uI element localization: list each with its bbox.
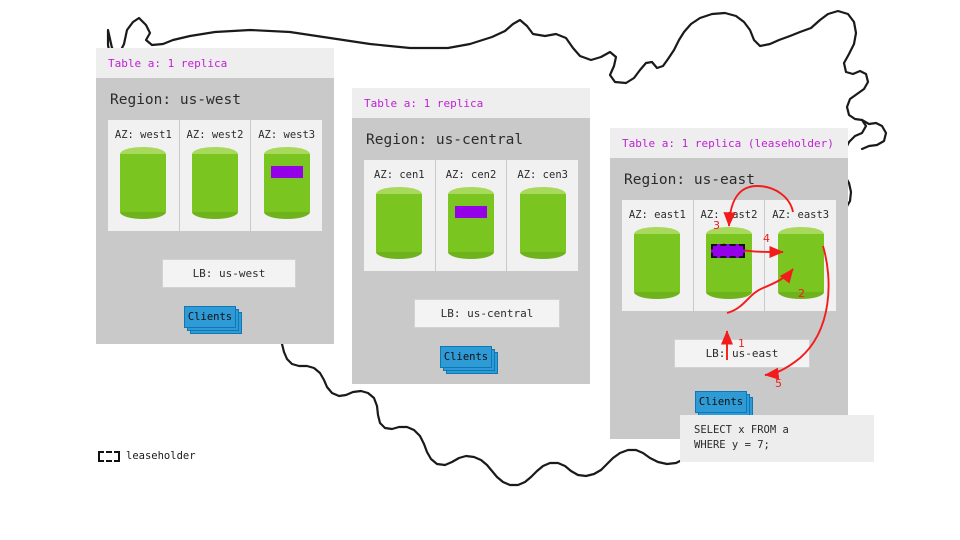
load-balancer-us-west[interactable]: LB: us-west (162, 259, 296, 288)
az-cell-west3[interactable]: AZ: west3 (251, 120, 322, 231)
step-number-3: 3 (713, 219, 720, 232)
az-cell-east2[interactable]: AZ: east2 (694, 200, 766, 311)
cylinder-body (264, 154, 310, 212)
panel-header-us-west: Table a: 1 replica (96, 48, 334, 78)
az-cell-west1[interactable]: AZ: west1 (108, 120, 180, 231)
clients-label-us-west: Clients (184, 306, 236, 328)
panel-body-us-east: Region: us-east AZ: east1 AZ: east2 (610, 158, 848, 439)
diagram-canvas: Table a: 1 replica Region: us-west AZ: w… (0, 0, 960, 540)
step-number-5: 5 (775, 377, 782, 390)
clients-us-west[interactable]: Clients (184, 306, 240, 330)
sql-query-box: SELECT x FROM a WHERE y = 7; (680, 415, 874, 462)
cylinder-body (376, 194, 422, 252)
cylinder-body (634, 234, 680, 292)
panel-body-us-central: Region: us-central AZ: cen1 AZ: cen2 (352, 118, 590, 384)
leaseholder-replica-chip-east2 (711, 244, 745, 258)
clients-label-us-east: Clients (695, 391, 747, 413)
cylinder-body (706, 234, 752, 292)
leaseholder-swatch-icon (98, 451, 120, 462)
clients-us-central[interactable]: Clients (440, 346, 496, 370)
panel-header-us-east: Table a: 1 replica (leaseholder) (610, 128, 848, 158)
az-cell-cen1[interactable]: AZ: cen1 (364, 160, 436, 271)
load-balancer-us-central[interactable]: LB: us-central (414, 299, 560, 328)
az-label-west2: AZ: west2 (180, 129, 251, 141)
legend-leaseholder: leaseholder (98, 450, 196, 462)
az-cell-east1[interactable]: AZ: east1 (622, 200, 694, 311)
replica-chip-west3 (271, 166, 303, 178)
region-panel-us-west[interactable]: Table a: 1 replica Region: us-west AZ: w… (96, 48, 334, 344)
region-title-us-central: Region: us-central (352, 118, 590, 160)
clients-us-east[interactable]: Clients (695, 391, 751, 415)
step-number-4: 4 (763, 232, 770, 245)
az-row-us-central: AZ: cen1 AZ: cen2 (364, 160, 578, 271)
node-cylinder-east2[interactable] (706, 227, 752, 299)
legend-label: leaseholder (126, 450, 196, 462)
az-label-east1: AZ: east1 (622, 209, 693, 221)
step-number-2: 2 (798, 287, 805, 300)
az-label-east3: AZ: east3 (765, 209, 836, 221)
cylinder-body (520, 194, 566, 252)
panel-body-us-west: Region: us-west AZ: west1 AZ: west2 (96, 78, 334, 344)
cylinder-body (448, 194, 494, 252)
cylinder-body (778, 234, 824, 292)
az-cell-cen3[interactable]: AZ: cen3 (507, 160, 578, 271)
node-cylinder-west1[interactable] (120, 147, 166, 219)
az-label-cen3: AZ: cen3 (507, 169, 578, 181)
node-cylinder-west2[interactable] (192, 147, 238, 219)
az-label-cen2: AZ: cen2 (436, 169, 507, 181)
node-cylinder-cen2[interactable] (448, 187, 494, 259)
az-label-west1: AZ: west1 (108, 129, 179, 141)
az-label-cen1: AZ: cen1 (364, 169, 435, 181)
region-panel-us-east[interactable]: Table a: 1 replica (leaseholder) Region:… (610, 128, 848, 439)
step-number-1: 1 (738, 337, 745, 350)
node-cylinder-east1[interactable] (634, 227, 680, 299)
node-cylinder-west3[interactable] (264, 147, 310, 219)
region-title-us-east: Region: us-east (610, 158, 848, 200)
cylinder-body (120, 154, 166, 212)
node-cylinder-cen1[interactable] (376, 187, 422, 259)
node-cylinder-cen3[interactable] (520, 187, 566, 259)
az-cell-west2[interactable]: AZ: west2 (180, 120, 252, 231)
az-row-us-west: AZ: west1 AZ: west2 AZ (108, 120, 322, 231)
az-cell-cen2[interactable]: AZ: cen2 (436, 160, 508, 271)
replica-chip-cen2 (455, 206, 487, 218)
panel-header-us-central: Table a: 1 replica (352, 88, 590, 118)
clients-label-us-central: Clients (440, 346, 492, 368)
cylinder-body (192, 154, 238, 212)
az-label-west3: AZ: west3 (251, 129, 322, 141)
region-title-us-west: Region: us-west (96, 78, 334, 120)
az-label-east2: AZ: east2 (694, 209, 765, 221)
region-panel-us-central[interactable]: Table a: 1 replica Region: us-central AZ… (352, 88, 590, 384)
